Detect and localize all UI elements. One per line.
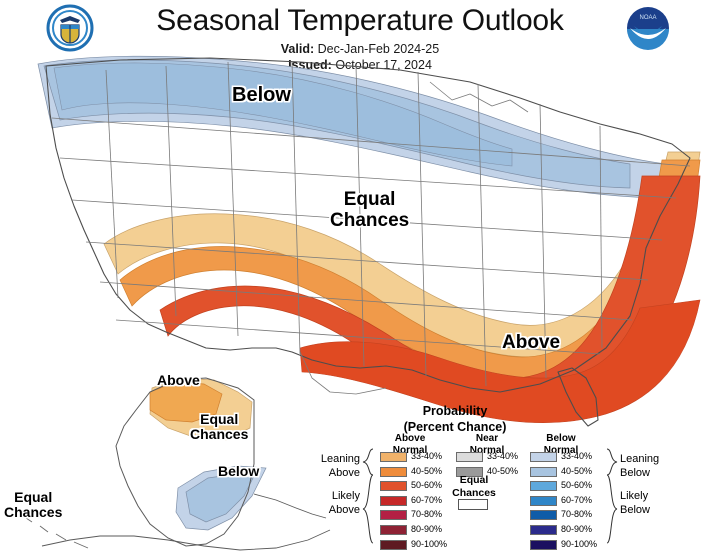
legend-range-below-normal-33-40%: 33-40% <box>561 451 592 461</box>
map-label-ec-line1: Equal <box>330 190 409 211</box>
brace-likely-below-icon <box>606 474 618 544</box>
legend-range-above-normal-70-80%: 70-80% <box>411 509 442 519</box>
legend-swatch-near-normal-33-40% <box>456 452 483 462</box>
legend-swatch-above-normal-80-90% <box>380 525 407 535</box>
legend-range-above-normal-90-100%: 90-100% <box>411 539 447 549</box>
legend-swatch-below-normal-50-60% <box>530 481 557 491</box>
leaning-below-l2: Below <box>620 467 690 481</box>
svg-text:NOAA: NOAA <box>639 15 656 21</box>
likely-above-l1: Likely <box>302 490 360 504</box>
legend-range-above-normal-33-40%: 33-40% <box>411 451 442 461</box>
map-label-above-conus: Above <box>502 333 560 354</box>
legend-range-below-normal-70-80%: 70-80% <box>561 509 592 519</box>
legend-side-leaning-below: Leaning Below <box>620 453 690 481</box>
alaska-inset <box>42 378 330 550</box>
leaning-below-l1: Leaning <box>620 453 690 467</box>
legend-swatch-above-normal-70-80% <box>380 510 407 520</box>
hawaii-inset <box>26 518 88 548</box>
legend-range-below-normal-40-50%: 40-50% <box>561 466 592 476</box>
map-label-ec-ak-line2: Chances <box>190 427 248 442</box>
legend-head-above-l1: Above <box>375 433 445 445</box>
legend-swatch-below-normal-33-40% <box>530 452 557 462</box>
legend-range-above-normal-80-90%: 80-90% <box>411 524 442 534</box>
legend-swatch-below-normal-70-80% <box>530 510 557 520</box>
legend-range-below-normal-90-100%: 90-100% <box>561 539 597 549</box>
legend-equal-chances-swatch <box>458 499 488 510</box>
map-label-above-alaska: Above <box>157 373 200 388</box>
legend-swatch-below-normal-40-50% <box>530 467 557 477</box>
legend-title: Probability (Percent Chance) <box>330 404 580 435</box>
legend-ec-line1: Equal <box>438 474 510 487</box>
noaa-logo: NOAA <box>624 4 672 52</box>
legend-head-near-l1: Near <box>452 433 522 445</box>
likely-below-l2: Below <box>620 504 690 518</box>
legend-swatch-below-normal-60-70% <box>530 496 557 506</box>
legend-ec-line2: Chances <box>438 487 510 500</box>
legend-swatch-above-normal-60-70% <box>380 496 407 506</box>
probability-legend: Probability (Percent Chance) Above Norma… <box>330 404 720 556</box>
leaning-above-l2: Above <box>302 467 360 481</box>
legend-swatch-above-normal-50-60% <box>380 481 407 491</box>
brace-leaning-above-icon <box>362 448 374 476</box>
legend-swatch-above-normal-33-40% <box>380 452 407 462</box>
map-label-equal-chances-alaska: Equal Chances <box>190 412 248 442</box>
nws-logo <box>46 4 94 52</box>
legend-side-likely-above: Likely Above <box>302 490 360 518</box>
brace-leaning-below-icon <box>606 448 618 476</box>
legend-head-below-l1: Below <box>526 433 596 445</box>
legend-equal-chances-label: Equal Chances <box>438 474 510 500</box>
brace-likely-above-icon <box>362 474 374 544</box>
legend-range-below-normal-80-90%: 80-90% <box>561 524 592 534</box>
legend-swatch-below-normal-80-90% <box>530 525 557 535</box>
page-title: Seasonal Temperature Outlook <box>110 4 610 38</box>
map-label-below-conus: Below <box>232 85 291 107</box>
legend-side-leaning-above: Leaning Above <box>302 453 360 481</box>
legend-side-likely-below: Likely Below <box>620 490 690 518</box>
map-label-ec-hi-line2: Chances <box>4 505 62 520</box>
legend-range-near-normal-33-40%: 33-40% <box>487 451 518 461</box>
likely-below-l1: Likely <box>620 490 690 504</box>
leaning-above-l1: Leaning <box>302 453 360 467</box>
map-label-ec-hi-line1: Equal <box>4 490 62 505</box>
map-label-below-alaska: Below <box>218 464 259 479</box>
map-label-ec-line2: Chances <box>330 211 409 232</box>
legend-swatch-below-normal-90-100% <box>530 540 557 550</box>
map-label-ec-ak-line1: Equal <box>190 412 248 427</box>
legend-swatch-above-normal-40-50% <box>380 467 407 477</box>
likely-above-l2: Above <box>302 504 360 518</box>
legend-range-below-normal-60-70%: 60-70% <box>561 495 592 505</box>
map-label-equal-chances-hawaii: Equal Chances <box>4 490 62 520</box>
map-label-equal-chances-conus: Equal Chances <box>330 190 409 231</box>
legend-title-line1: Probability <box>330 404 580 420</box>
legend-swatch-above-normal-90-100% <box>380 540 407 550</box>
legend-range-below-normal-50-60%: 50-60% <box>561 480 592 490</box>
hawaii-islands <box>26 518 88 548</box>
